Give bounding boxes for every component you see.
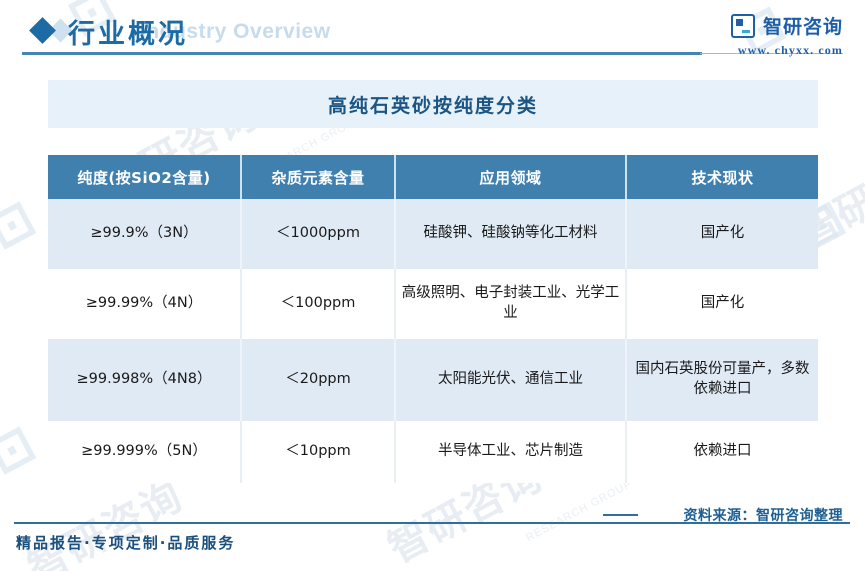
- cell-application: 硅酸钾、硅酸钠等化工材料: [395, 199, 626, 269]
- cell-impurity: ＜20ppm: [241, 339, 395, 421]
- table-row: ≥99.999%（5N） ＜10ppm 半导体工业、芯片制造 依赖进口: [48, 421, 818, 483]
- cell-application: 高级照明、电子封装工业、光学工业: [395, 269, 626, 339]
- slide-page: ⊡ 智研咨询 RESEARCH GROUP 智研咨询 RESEARCH GROU…: [0, 0, 865, 571]
- footer-divider: [14, 522, 850, 524]
- column-header-status: 技术现状: [626, 155, 818, 199]
- cell-impurity: ＜100ppm: [241, 269, 395, 339]
- table-row: ≥99.998%（4N8） ＜20ppm 太阳能光伏、通信工业 国内石英股份可量…: [48, 339, 818, 421]
- table-header-row: 纯度(按SiO2含量) 杂质元素含量 应用领域 技术现状: [48, 155, 818, 199]
- cell-status: 依赖进口: [626, 421, 818, 483]
- brand-url[interactable]: www. chyxx. com: [731, 43, 843, 58]
- table-body: ≥99.9%（3N） ＜1000ppm 硅酸钾、硅酸钠等化工材料 国产化 ≥99…: [48, 199, 818, 483]
- cell-purity: ≥99.9%（3N）: [48, 199, 241, 269]
- watermark-logo: ⊡: [0, 188, 45, 261]
- header-divider: [22, 52, 702, 55]
- cell-impurity: ＜1000ppm: [241, 199, 395, 269]
- column-header-impurity: 杂质元素含量: [241, 155, 395, 199]
- column-header-application: 应用领域: [395, 155, 626, 199]
- source-divider: [603, 514, 638, 516]
- cell-status: 国产化: [626, 199, 818, 269]
- footer-slogan: 精品报告·专项定制·品质服务: [16, 532, 235, 553]
- page-title: 高纯石英砂按纯度分类: [328, 91, 538, 118]
- cell-purity: ≥99.998%（4N8）: [48, 339, 241, 421]
- purity-classification-table: 纯度(按SiO2含量) 杂质元素含量 应用领域 技术现状 ≥99.9%（3N） …: [48, 155, 818, 483]
- watermark-subtext: RESEARCH GROUP: [524, 478, 634, 544]
- cell-status: 国内石英股份可量产，多数依赖进口: [626, 339, 818, 421]
- cell-application: 太阳能光伏、通信工业: [395, 339, 626, 421]
- section-title: 行业概况: [68, 12, 188, 51]
- zhiyan-logo-icon: [731, 14, 755, 38]
- column-header-purity: 纯度(按SiO2含量): [48, 155, 241, 199]
- brand-name: 智研咨询: [763, 12, 843, 39]
- cell-purity: ≥99.999%（5N）: [48, 421, 241, 483]
- watermark-logo: ⊡: [0, 413, 45, 486]
- table-row: ≥99.9%（3N） ＜1000ppm 硅酸钾、硅酸钠等化工材料 国产化: [48, 199, 818, 269]
- brand-logo[interactable]: 智研咨询 www. chyxx. com: [731, 12, 843, 58]
- cell-purity: ≥99.99%（4N）: [48, 269, 241, 339]
- chart-title-banner: 高纯石英砂按纯度分类: [48, 80, 818, 128]
- cell-status: 国产化: [626, 269, 818, 339]
- table-row: ≥99.99%（4N） ＜100ppm 高级照明、电子封装工业、光学工业 国产化: [48, 269, 818, 339]
- table-header: 纯度(按SiO2含量) 杂质元素含量 应用领域 技术现状: [48, 155, 818, 199]
- cell-application: 半导体工业、芯片制造: [395, 421, 626, 483]
- cell-impurity: ＜10ppm: [241, 421, 395, 483]
